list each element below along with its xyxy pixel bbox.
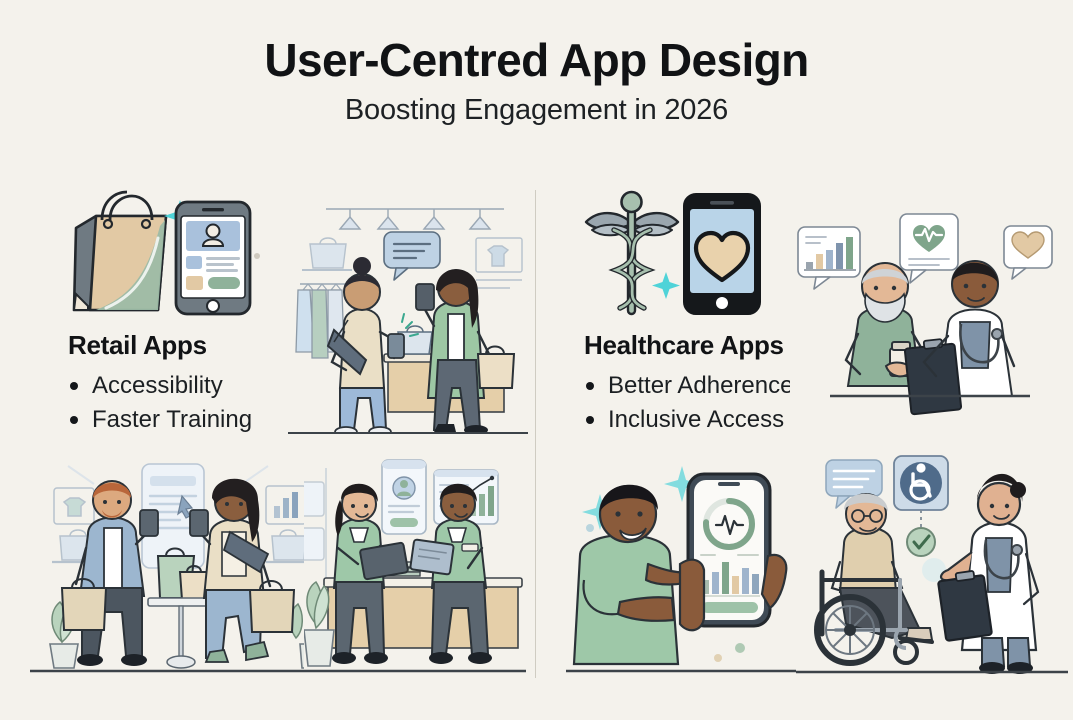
page-subtitle: Boosting Engagement in 2026: [0, 94, 1073, 127]
healthcare-bullet-list: Better Adherence Inclusive Access: [584, 369, 793, 437]
retail-panel-title: Retail Apps: [68, 330, 252, 361]
smartphone-profile-icon: [176, 202, 250, 314]
clipboard: [905, 339, 962, 414]
retail-store-scene: [288, 192, 528, 434]
phone-cta-button: [702, 602, 758, 613]
dot-accent: [586, 524, 594, 532]
retail-bullet-list: Accessibility Faster Training: [68, 369, 252, 437]
smartphone-heart-icon: [684, 194, 760, 314]
retail-panel-text: Retail Apps Accessibility Faster Trainin…: [68, 330, 252, 437]
header: User-Centred App Design Boosting Engagem…: [0, 36, 1073, 127]
clipboard: [410, 539, 454, 574]
retail-shoppers-scene: [24, 452, 310, 678]
check-badge-icon: [907, 528, 935, 556]
name-badge: [462, 544, 478, 551]
profile-card-panel: [382, 460, 426, 534]
retail-bullet-item: Accessibility: [68, 369, 252, 403]
healthcare-consult-scene: [790, 210, 1068, 434]
health-app-demo-scene: [552, 452, 808, 678]
clipboard: [938, 571, 992, 641]
healthcare-panel-title: Healthcare Apps: [584, 330, 793, 361]
healthcare-hero-icons: [570, 186, 770, 316]
infographic-canvas: User-Centred App Design Boosting Engagem…: [0, 0, 1073, 720]
healthcare-panel-text: Healthcare Apps Better Adherence Inclusi…: [584, 330, 793, 437]
dot-accent: [254, 253, 260, 259]
caduceus-icon: [586, 192, 678, 314]
tablet: [360, 542, 409, 579]
healthcare-bullet-item: Inclusive Access: [584, 403, 793, 437]
sparkle-icon: [652, 272, 680, 299]
retail-hero-icons: [62, 186, 262, 316]
panel-divider: [535, 190, 536, 678]
accessible-care-scene: [796, 452, 1068, 678]
retail-staff-training-scene: [304, 452, 532, 678]
healthcare-bullet-item: Better Adherence: [584, 369, 793, 403]
retail-bullet-item: Faster Training: [68, 403, 252, 437]
dot-accent: [735, 643, 745, 653]
dot-accent: [714, 654, 722, 662]
page-title: User-Centred App Design: [0, 36, 1073, 84]
shopping-bag-icon: [74, 192, 166, 310]
